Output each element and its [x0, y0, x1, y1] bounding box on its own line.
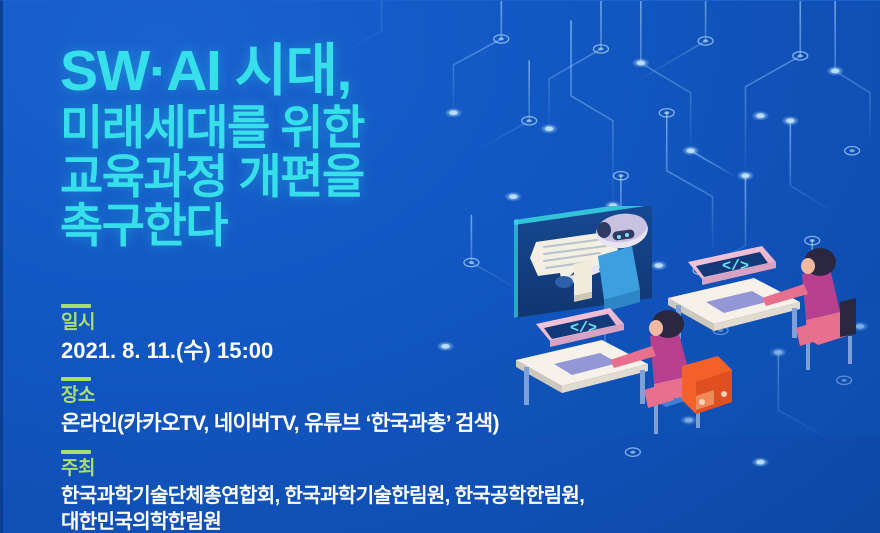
poster-headline: SW·AI 시대, 미래세대를 위한 교육과정 개편을 촉구한다	[60, 43, 620, 249]
info-value-venue: 온라인(카카오TV, 네이버TV, 유튜브 ‘한국과총’ 검색)	[61, 410, 499, 437]
info-value-host-line-1: 한국과학기술단체총연합회, 한국과학기술한림원, 한국공학한림원,	[61, 483, 584, 509]
info-value-date: 2021. 8. 11.(수) 15:00	[61, 337, 273, 366]
info-block-venue: 장소 온라인(카카오TV, 네이버TV, 유튜브 ‘한국과총’ 검색)	[61, 377, 499, 437]
headline-line-4: 촉구한다	[60, 202, 620, 249]
info-block-host: 주최 한국과학기술단체총연합회, 한국과학기술한림원, 한국공학한림원, 대한민…	[61, 450, 584, 533]
headline-line-2: 미래세대를 위한	[60, 104, 620, 151]
info-label-host: 주최	[61, 458, 584, 480]
info-block-date: 일시 2021. 8. 11.(수) 15:00	[61, 304, 273, 365]
headline-line-3: 교육과정 개편을	[60, 153, 620, 200]
info-label-venue: 장소	[61, 385, 499, 407]
event-poster: SW·AI 시대, 미래세대를 위한 교육과정 개편을 촉구한다	[0, 0, 880, 533]
accent-bar-venue	[61, 377, 91, 381]
info-label-date: 일시	[61, 312, 273, 334]
monitor-back: </>	[688, 246, 776, 285]
headline-line-1: SW·AI 시대,	[60, 43, 620, 100]
info-value-host-line-2: 대한민국의학한림원	[61, 509, 584, 533]
accent-bar-date	[61, 304, 91, 308]
accent-bar-host	[61, 450, 91, 454]
